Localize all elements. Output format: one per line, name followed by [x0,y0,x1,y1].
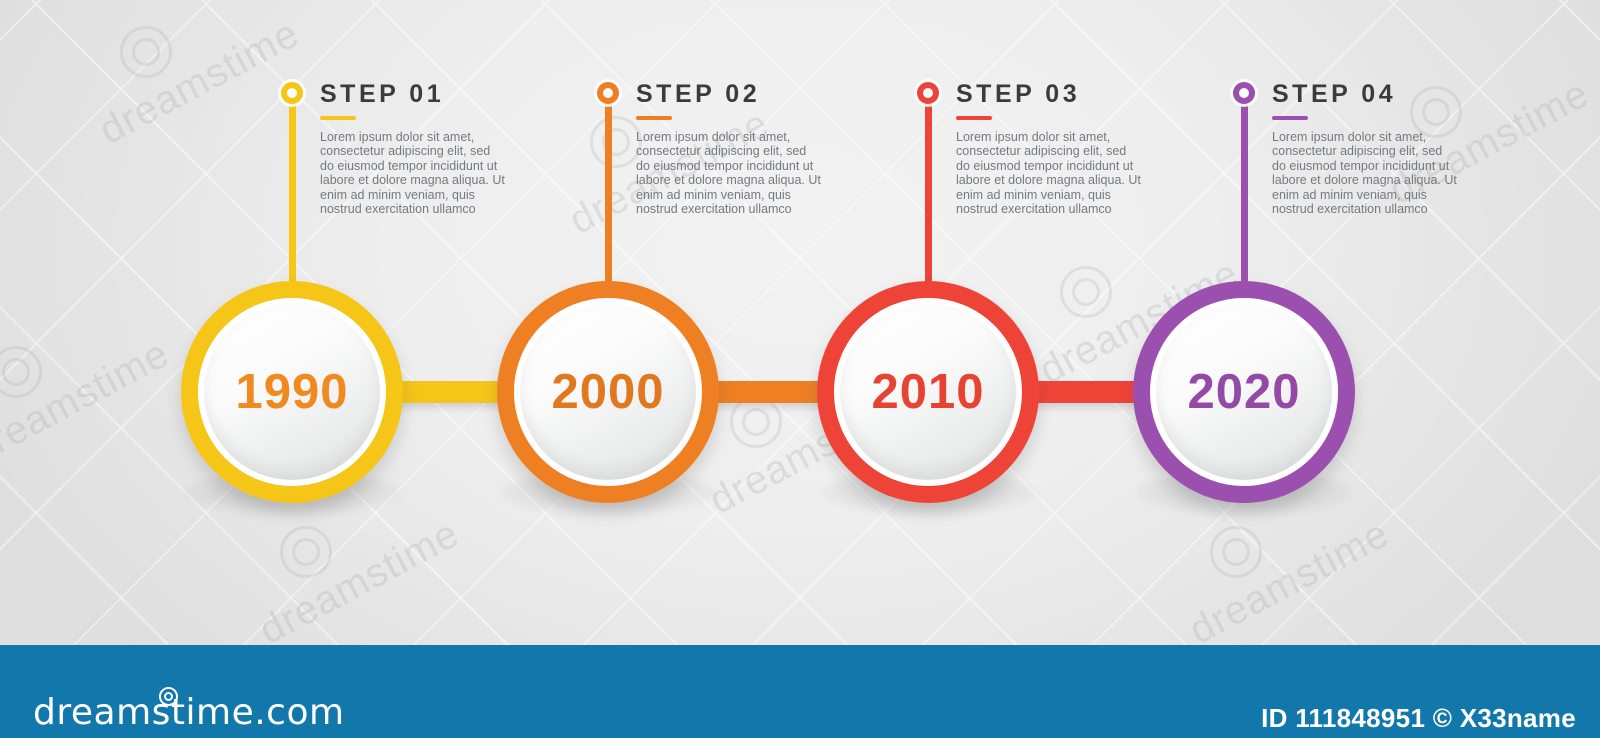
step-block-1: STEP 01 Lorem ipsum dolor sit amet, cons… [320,80,506,216]
step-accent-rule [320,116,356,120]
step-accent-rule [956,116,992,120]
step-body-text: Lorem ipsum dolor sit amet, consectetur … [1272,130,1458,216]
year-node-face: 1990 [198,298,386,486]
step-accent-rule [1272,116,1308,120]
year-label: 2010 [871,364,984,420]
pin-marker-icon-2 [597,82,619,104]
pin-marker-icon-4 [1233,82,1255,104]
year-label: 2000 [551,364,664,420]
step-body-text: Lorem ipsum dolor sit amet, consectetur … [320,130,506,216]
dreamstime-logo-text[interactable]: dreamstime.com [33,692,345,733]
pin-marker-icon-1 [281,82,303,104]
year-node-face: 2010 [834,298,1022,486]
step-title: STEP 03 [956,80,1142,109]
year-label: 2020 [1187,364,1300,420]
dreamstime-spiral-icon [159,687,178,706]
stem-line-3 [925,92,932,294]
year-node-2020[interactable]: 2020 [1133,281,1355,503]
image-id-credit: ID 111848951 © X33name [1261,703,1576,734]
year-node-face: 2020 [1150,298,1338,486]
year-node-face: 2000 [514,298,702,486]
stem-line-2 [605,92,612,294]
step-title: STEP 01 [320,80,506,109]
year-node-1990[interactable]: 1990 [181,281,403,503]
step-accent-rule [636,116,672,120]
stock-footer-bar: dreamstime.com ID 111848951 © X33name [0,645,1600,738]
step-title: STEP 04 [1272,80,1458,109]
step-title: STEP 02 [636,80,822,109]
infographic-canvas: dreamstimedreamstimedreamstimedreamstime… [0,0,1600,738]
year-label: 1990 [235,364,348,420]
step-block-3: STEP 03 Lorem ipsum dolor sit amet, cons… [956,80,1142,216]
step-body-text: Lorem ipsum dolor sit amet, consectetur … [636,130,822,216]
pin-marker-icon-3 [917,82,939,104]
step-block-4: STEP 04 Lorem ipsum dolor sit amet, cons… [1272,80,1458,216]
step-block-2: STEP 02 Lorem ipsum dolor sit amet, cons… [636,80,822,216]
year-node-2000[interactable]: 2000 [497,281,719,503]
stem-line-4 [1241,92,1248,294]
step-body-text: Lorem ipsum dolor sit amet, consectetur … [956,130,1142,216]
stem-line-1 [289,92,296,294]
year-node-2010[interactable]: 2010 [817,281,1039,503]
